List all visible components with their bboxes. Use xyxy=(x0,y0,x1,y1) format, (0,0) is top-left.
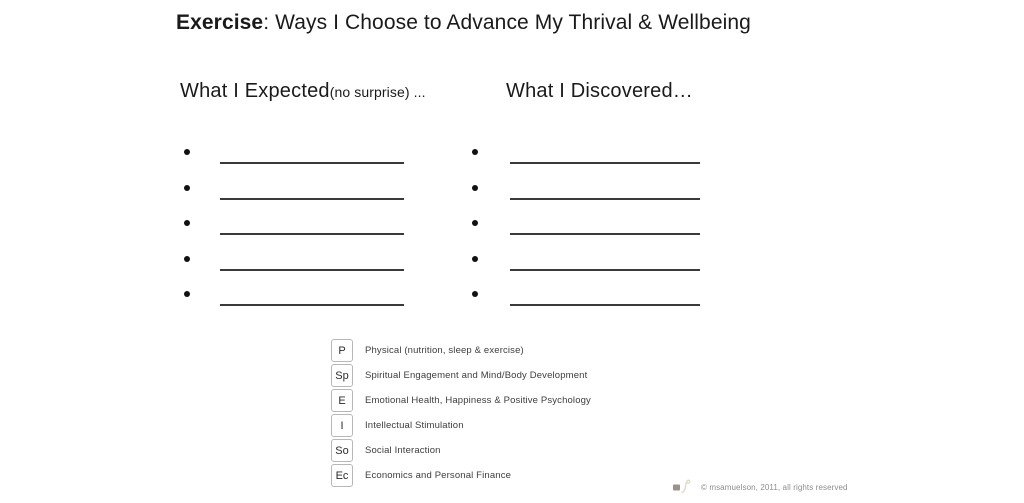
blank-write-in-line[interactable] xyxy=(510,304,700,306)
answer-column-discovered xyxy=(468,140,700,318)
blank-write-in-line[interactable] xyxy=(220,269,404,271)
answer-row xyxy=(468,176,700,212)
blank-write-in-line[interactable] xyxy=(220,198,404,200)
answer-column-expected xyxy=(180,140,410,318)
column-header-expected: What I Expected(no surprise) ... xyxy=(180,80,426,103)
blank-write-in-line[interactable] xyxy=(220,233,404,235)
page-title-keyword: Exercise xyxy=(176,11,263,34)
bullet-icon xyxy=(184,256,190,262)
answer-row xyxy=(180,247,410,283)
bullet-icon xyxy=(184,149,190,155)
legend-abbr-badge: P xyxy=(331,339,353,362)
column-header-expected-sub: (no surprise) ... xyxy=(330,84,426,100)
legend-row: P Physical (nutrition, sleep & exercise) xyxy=(331,338,591,363)
bullet-icon xyxy=(472,149,478,155)
legend-row: Ec Economics and Personal Finance xyxy=(331,463,591,488)
legend-abbr-badge: So xyxy=(331,439,353,462)
column-header-discovered: What I Discovered… xyxy=(506,80,693,103)
answer-row xyxy=(180,282,410,318)
legend-abbr-badge: Sp xyxy=(331,364,353,387)
column-header-discovered-main: What I Discovered… xyxy=(506,80,693,102)
answer-row xyxy=(468,211,700,247)
footer-credit: © msamuelson, 2011, all rights reserved xyxy=(672,478,848,496)
bullet-icon xyxy=(184,291,190,297)
legend-label: Social Interaction xyxy=(365,445,441,457)
answer-row xyxy=(468,247,700,283)
dimension-legend: P Physical (nutrition, sleep & exercise)… xyxy=(331,338,591,488)
legend-label: Economics and Personal Finance xyxy=(365,470,511,482)
legend-row: Sp Spiritual Engagement and Mind/Body De… xyxy=(331,363,591,388)
bullet-icon xyxy=(472,256,478,262)
blank-write-in-line[interactable] xyxy=(510,198,700,200)
bullet-icon xyxy=(472,291,478,297)
legend-label: Physical (nutrition, sleep & exercise) xyxy=(365,345,524,357)
page-title: Exercise: Ways I Choose to Advance My Th… xyxy=(176,9,751,37)
answer-row xyxy=(180,211,410,247)
legend-label: Intellectual Stimulation xyxy=(365,420,464,432)
answer-row xyxy=(468,140,700,176)
legend-abbr-badge: I xyxy=(331,414,353,437)
legend-row: I Intellectual Stimulation xyxy=(331,413,591,438)
answer-row xyxy=(468,282,700,318)
blank-write-in-line[interactable] xyxy=(510,233,700,235)
answer-row xyxy=(180,176,410,212)
legend-row: E Emotional Health, Happiness & Positive… xyxy=(331,388,591,413)
legend-abbr-badge: Ec xyxy=(331,464,353,487)
bullet-icon xyxy=(472,185,478,191)
legend-abbr-badge: E xyxy=(331,389,353,412)
flourish-logo-icon xyxy=(672,478,698,496)
copyright-text: © msamuelson, 2011, all rights reserved xyxy=(701,482,848,493)
bullet-icon xyxy=(184,220,190,226)
bullet-icon xyxy=(184,185,190,191)
blank-write-in-line[interactable] xyxy=(510,269,700,271)
legend-label: Spiritual Engagement and Mind/Body Devel… xyxy=(365,370,587,382)
slide-canvas: Exercise: Ways I Choose to Advance My Th… xyxy=(0,0,1024,503)
column-header-expected-main: What I Expected xyxy=(180,80,330,102)
answer-row xyxy=(180,140,410,176)
blank-write-in-line[interactable] xyxy=(510,162,700,164)
bullet-icon xyxy=(472,220,478,226)
blank-write-in-line[interactable] xyxy=(220,304,404,306)
legend-label: Emotional Health, Happiness & Positive P… xyxy=(365,395,591,407)
page-title-rest: : Ways I Choose to Advance My Thrival & … xyxy=(263,11,751,34)
blank-write-in-line[interactable] xyxy=(220,162,404,164)
legend-row: So Social Interaction xyxy=(331,438,591,463)
